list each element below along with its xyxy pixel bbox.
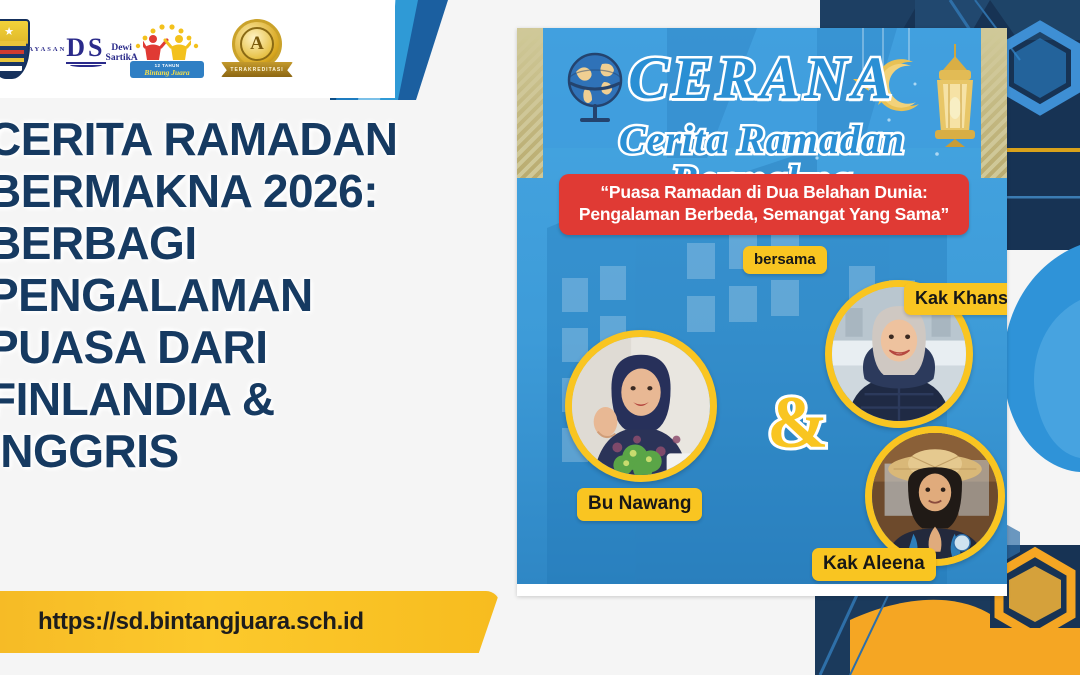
title-line-1: CERITA RAMADAN bbox=[0, 113, 398, 165]
page-title: CERITA RAMADAN BERMAKNA 2026: BERBAGI PE… bbox=[0, 114, 458, 478]
together-label: bersama bbox=[743, 246, 827, 274]
bintang-juara-ribbon: 12 TAHUN Bintang Juara bbox=[130, 61, 204, 78]
ampersand-symbol: & bbox=[767, 386, 829, 460]
title-line-5: PUASA DARI bbox=[0, 321, 268, 373]
photo-kak-aleena bbox=[865, 426, 1005, 566]
name-tag-kak-khansa: Kak Khansa bbox=[904, 283, 1007, 315]
poster-tagline-box: “Puasa Ramadan di Dua Belahan Dunia: Pen… bbox=[559, 174, 969, 235]
website-url-banner[interactable]: https://sd.bintangjuara.sch.id bbox=[0, 591, 500, 653]
name-tag-bu-nawang: Bu Nawang bbox=[577, 488, 702, 521]
photo-bu-nawang bbox=[565, 330, 717, 482]
akreditasi-a-logo: A TERAKREDITASI bbox=[218, 17, 296, 81]
event-poster: CERANA Cerita Ramadan Bermakna “Puasa Ra… bbox=[517, 28, 1007, 596]
accreditation-band: TERAKREDITASI bbox=[221, 62, 293, 77]
tagline-line-2: Pengalaman Berbeda, Semangat Yang Sama” bbox=[569, 203, 959, 225]
title-line-2: BERMAKNA 2026: bbox=[0, 165, 378, 217]
gold-seal-icon: A bbox=[232, 19, 282, 69]
title-line-3: BERBAGI bbox=[0, 217, 197, 269]
name-tag-kak-aleena: Kak Aleena bbox=[812, 548, 936, 581]
page-canvas: ★ YAYASAN DS Dewi SartikA bbox=[0, 0, 1080, 675]
poster-footer-strip bbox=[517, 586, 1007, 596]
bintang-juara-logo: 12 TAHUN Bintang Juara bbox=[130, 18, 204, 80]
yayasan-dewi-sartika-logo: YAYASAN DS Dewi SartikA bbox=[44, 35, 116, 64]
kabupaten-crest-icon: ★ bbox=[0, 19, 30, 79]
website-url-text: https://sd.bintangjuara.sch.id bbox=[38, 608, 364, 636]
title-line-4: PENGALAMAN bbox=[0, 269, 313, 321]
article-title-block: CERITA RAMADAN BERMAKNA 2026: BERBAGI PE… bbox=[0, 114, 458, 478]
title-line-6: FINLANDIA & bbox=[0, 373, 275, 425]
accreditation-grade: A bbox=[240, 27, 274, 61]
school-logo-bar: ★ YAYASAN DS Dewi SartikA bbox=[0, 0, 395, 98]
title-line-7: INGGRIS bbox=[0, 425, 179, 477]
tagline-line-1: “Puasa Ramadan di Dua Belahan Dunia: bbox=[569, 181, 959, 203]
ribbon-name: Bintang Juara bbox=[144, 68, 189, 77]
left-content-panel: ★ YAYASAN DS Dewi SartikA bbox=[0, 0, 520, 675]
ds-monogram: DS bbox=[66, 35, 105, 64]
poster-brand-title: CERANA bbox=[517, 48, 1007, 108]
two-children-icon bbox=[143, 34, 191, 62]
